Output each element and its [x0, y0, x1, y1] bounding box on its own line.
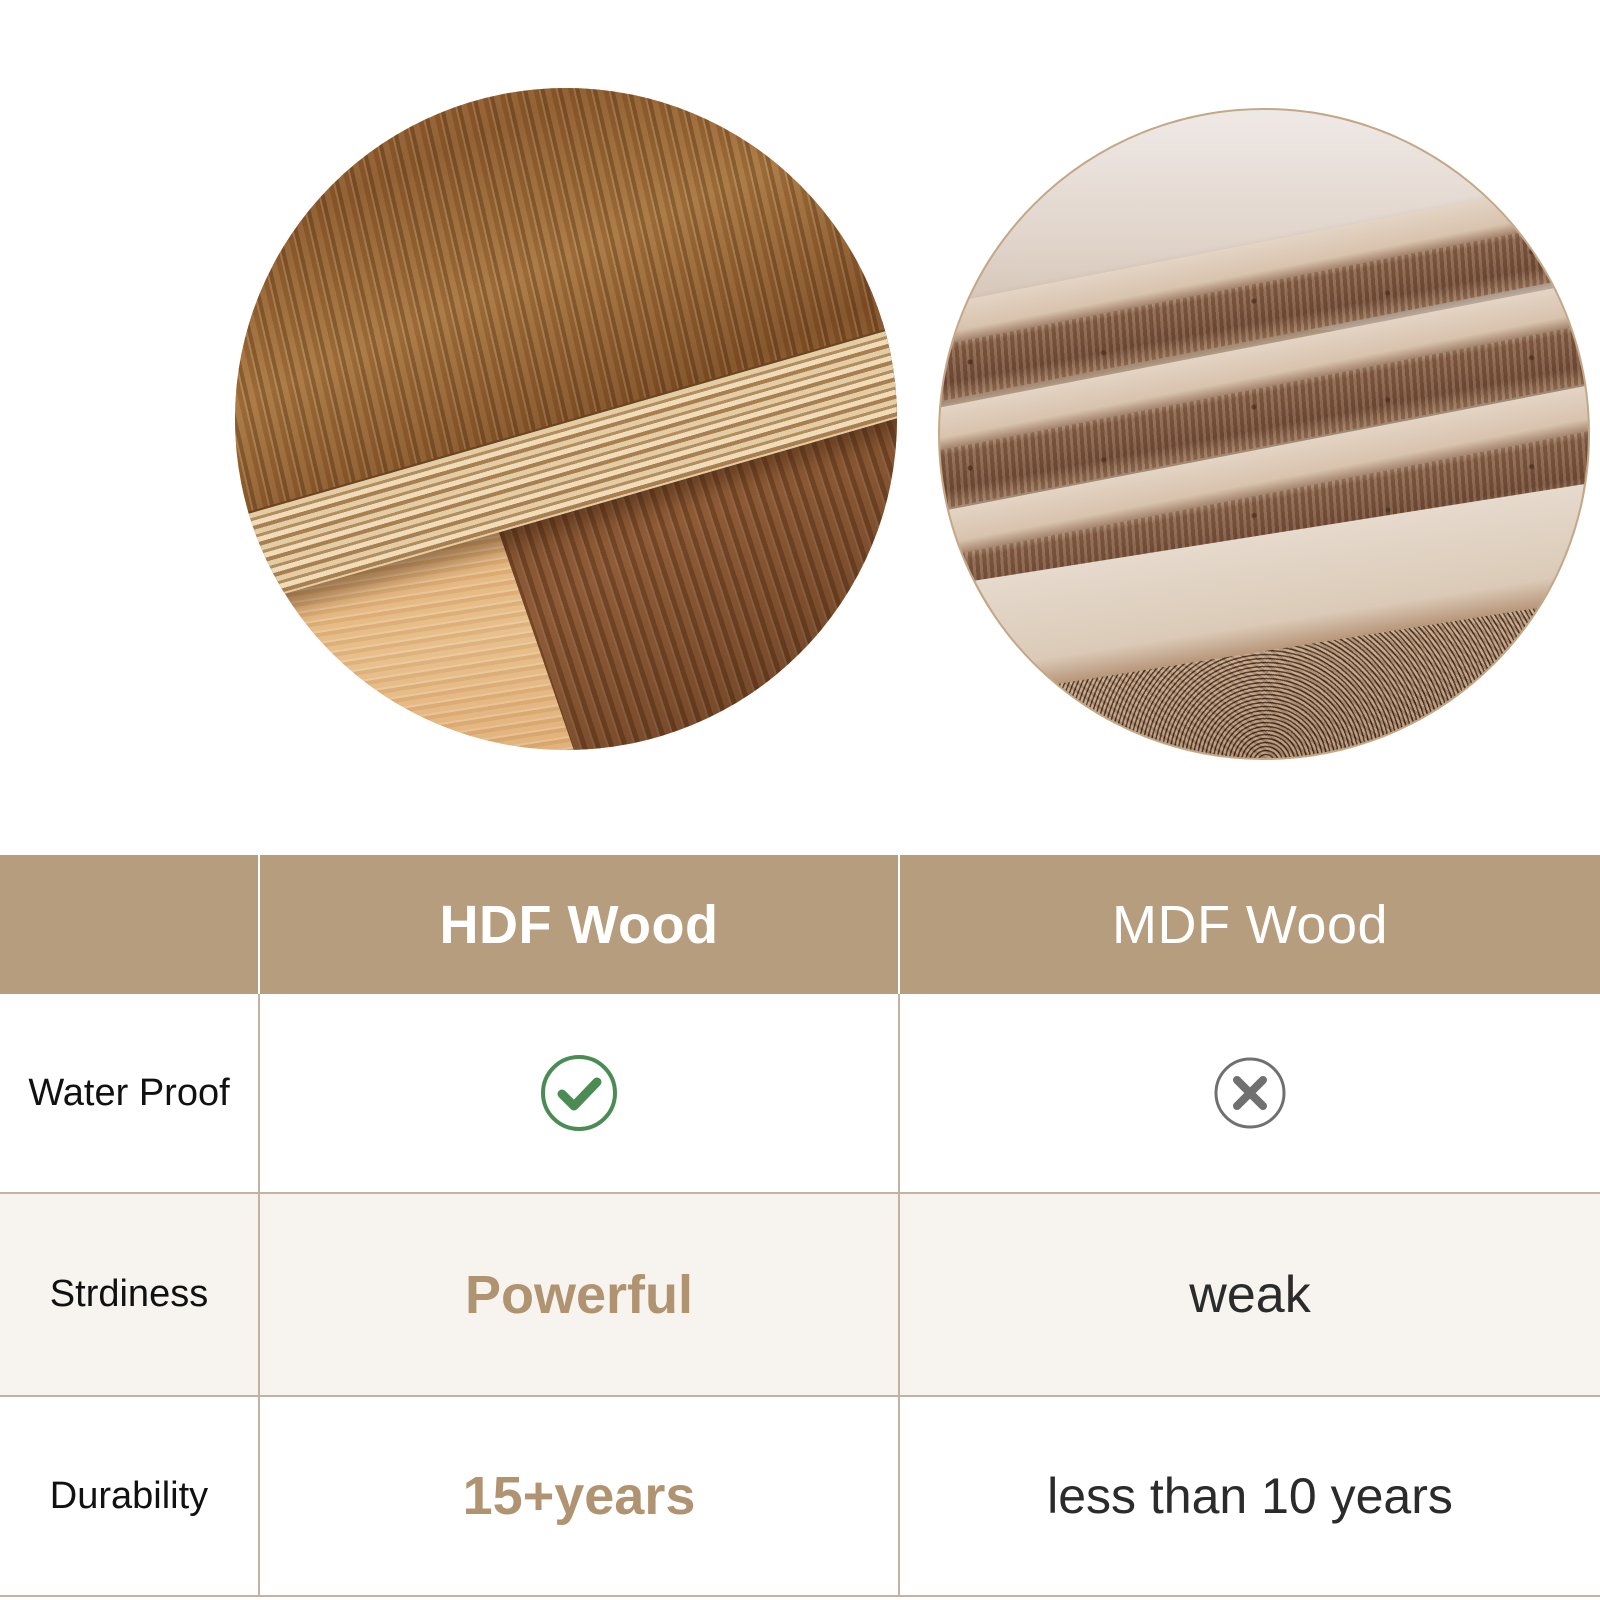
- cell-hdf-durability: 15+years: [260, 1397, 900, 1595]
- check-circle-icon: [537, 1051, 621, 1135]
- row-label-cell: Durability: [0, 1397, 260, 1595]
- mdf-wood-photo: [938, 108, 1590, 760]
- comparison-table: HDF Wood MDF Wood Water Proof: [0, 855, 1600, 1597]
- value-hdf-strdiness: Powerful: [465, 1264, 693, 1326]
- header-label-mdf: MDF Wood: [1112, 894, 1388, 956]
- table-row: Strdiness Powerful weak: [0, 1194, 1600, 1397]
- row-label-durability: Durability: [50, 1475, 208, 1518]
- table-row: Water Proof: [0, 994, 1600, 1194]
- cell-hdf-water-proof: [260, 994, 900, 1192]
- table-header-row: HDF Wood MDF Wood: [0, 855, 1600, 994]
- value-mdf-durability: less than 10 years: [1047, 1467, 1453, 1525]
- hdf-wood-photo: [235, 88, 897, 750]
- value-hdf-durability: 15+years: [463, 1465, 696, 1527]
- cell-mdf-strdiness: weak: [900, 1194, 1600, 1395]
- row-label-water-proof: Water Proof: [28, 1072, 229, 1115]
- header-cell-mdf: MDF Wood: [900, 855, 1600, 994]
- x-circle-icon: [1210, 1053, 1290, 1133]
- header-label-hdf: HDF Wood: [440, 894, 719, 956]
- row-label-cell: Water Proof: [0, 994, 260, 1192]
- header-cell-hdf: HDF Wood: [260, 855, 900, 994]
- row-label-strdiness: Strdiness: [50, 1273, 208, 1316]
- cell-hdf-strdiness: Powerful: [260, 1194, 900, 1395]
- cell-mdf-water-proof: [900, 994, 1600, 1192]
- row-label-cell: Strdiness: [0, 1194, 260, 1395]
- cell-mdf-durability: less than 10 years: [900, 1397, 1600, 1595]
- value-mdf-strdiness: weak: [1189, 1265, 1310, 1325]
- comparison-infographic: HDF Wood MDF Wood Water Proof: [0, 0, 1600, 1600]
- table-row: Durability 15+years less than 10 years: [0, 1397, 1600, 1597]
- hero-photo-row: [0, 0, 1600, 855]
- header-cell-property: [0, 855, 260, 994]
